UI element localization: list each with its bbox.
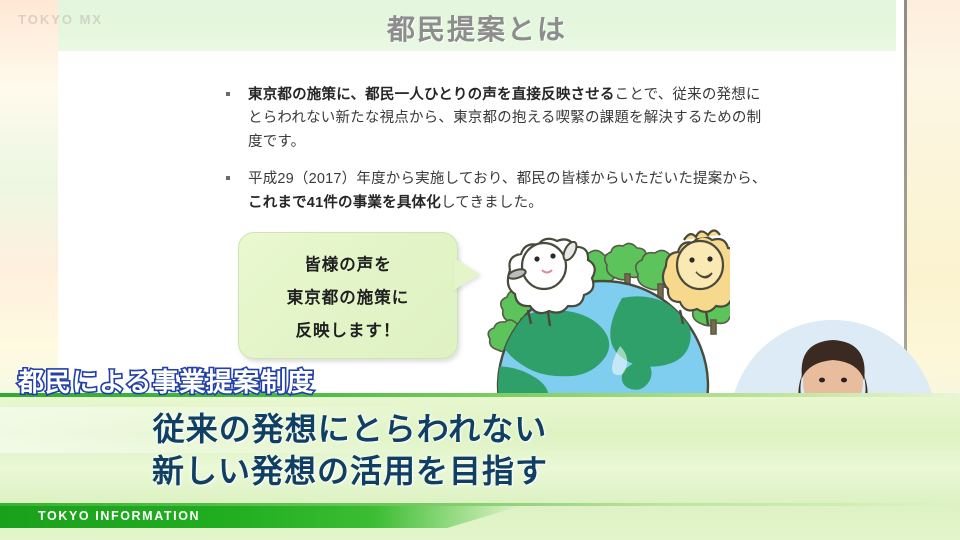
bullet-2-bold-mid: これまで41件の事業を具体化	[248, 195, 441, 211]
bullet-1-bold-lead: 東京都の施策に、都民一人ひとりの声を直接反映させる	[248, 87, 615, 103]
slide-edge-shadow	[904, 0, 907, 400]
broadcast-screen: 都民提案とは TOKYO MX 東京都の施策に、都民一人ひとりの声を直接反映させ…	[0, 0, 960, 540]
caption-line-2: 新しい発想の活用を目指す	[0, 450, 700, 492]
caption-line-1: 従来の発想にとらわれない	[0, 408, 700, 450]
bullet-2-lead: 平成29（2017）年度から実施しており、都民の皆様からいただいた提案から、	[248, 171, 767, 187]
tokyo-information-label: TOKYO INFORMATION	[38, 509, 200, 523]
program-banner-title: 都民による事業提案制度	[18, 362, 314, 399]
slide-title: 都民提案とは	[58, 8, 896, 48]
bullet-2-tail: してきました。	[441, 195, 543, 211]
bullet-item-1: 東京都の施策に、都民一人ひとりの声を直接反映させることで、従来の発想にとらわれな…	[222, 84, 772, 154]
earth-with-sheep-and-lion-illustration	[470, 218, 730, 403]
square-bullet-icon	[226, 176, 230, 180]
speech-bubble-line-3: 反映します！	[296, 317, 401, 341]
speech-bubble-line-2: 東京都の施策に	[287, 284, 410, 308]
bullet-item-2: 平成29（2017）年度から実施しており、都民の皆様からいただいた提案から、これ…	[222, 168, 772, 215]
station-logo-watermark: TOKYO MX	[18, 12, 103, 27]
slide-body: 東京都の施策に、都民一人ひとりの声を直接反映させることで、従来の発想にとらわれな…	[222, 84, 772, 229]
caption-block: 従来の発想にとらわれない 新しい発想の活用を目指す	[0, 408, 700, 492]
speech-bubble-text: 皆様の声を 東京都の施策に 反映します！	[239, 233, 457, 358]
speech-bubble: 皆様の声を 東京都の施策に 反映します！	[238, 232, 458, 359]
speech-bubble-line-1: 皆様の声を	[304, 251, 392, 275]
square-bullet-icon	[226, 92, 230, 96]
strip-top-line	[0, 503, 960, 506]
